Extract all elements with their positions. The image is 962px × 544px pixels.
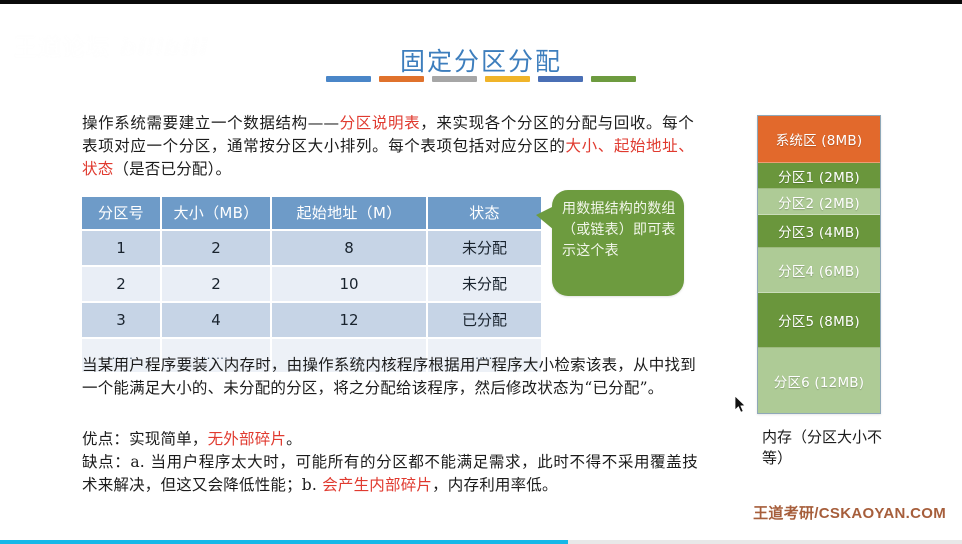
- memory-block-partition-4: 分区4 (6MB): [758, 248, 880, 293]
- memory-diagram-caption: 内存（分区大小不等）: [762, 427, 888, 469]
- cons-paragraph: 缺点：a. 当用户程序太大时，可能所有的分区都不能满足需求，此时不得不采用覆盖技…: [82, 451, 698, 497]
- page-title: 固定分区分配: [0, 42, 962, 78]
- rule-bar-5: [538, 76, 583, 82]
- watermark-bottom-right: 王道考研/CSKAOYAN.COM: [753, 502, 946, 523]
- rule-bar-1: [326, 76, 371, 82]
- cell-start-address: 8: [272, 231, 426, 265]
- partition-table-wrapper: 分区号 大小（MB） 起始地址（M） 状态 1 2 8 未分配 2: [80, 195, 533, 374]
- column-header-start-address: 起始地址（M）: [272, 197, 426, 229]
- intro-text-part1: 操作系统需要建立一个数据结构——: [82, 114, 339, 132]
- column-header-size: 大小（MB）: [162, 197, 270, 229]
- cell-partition-no: 3: [82, 303, 160, 337]
- column-header-partition-no: 分区号: [82, 197, 160, 229]
- cons-highlight-internal-fragmentation: 会产生内部碎片: [322, 476, 432, 494]
- pros-label: 优点：实现简单，: [82, 430, 208, 448]
- table-row: 1 2 8 未分配: [82, 231, 541, 265]
- cell-size: 4: [162, 303, 270, 337]
- column-header-status: 状态: [428, 197, 541, 229]
- memory-block-system-area: 系统区 (8MB): [758, 116, 880, 163]
- memory-block-label: 分区3 (4MB): [778, 221, 860, 241]
- video-progress-fill[interactable]: [0, 540, 568, 544]
- memory-block-label: 系统区 (8MB): [776, 129, 863, 149]
- rule-bar-4: [485, 76, 530, 82]
- callout-bubble: 用数据结构的数组（或链表）即可表示这个表: [552, 190, 684, 296]
- cell-status: 未分配: [428, 231, 541, 265]
- pros-paragraph: 优点：实现简单，无外部碎片。: [82, 428, 698, 451]
- cell-partition-no: 1: [82, 231, 160, 265]
- memory-block-label: 分区2 (2MB): [778, 192, 860, 212]
- partition-description-table: 分区号 大小（MB） 起始地址（M） 状态 1 2 8 未分配 2: [80, 195, 543, 374]
- intro-highlight-partition-table: 分区说明表: [339, 114, 420, 132]
- table-row: 3 4 12 已分配: [82, 303, 541, 337]
- rule-bar-3: [432, 76, 477, 82]
- memory-block-partition-3: 分区3 (4MB): [758, 215, 880, 248]
- memory-block-label: 分区5 (8MB): [778, 310, 860, 330]
- rule-bar-6: [591, 76, 636, 82]
- presentation-slide: 王道论坛bilibili 固定分区分配 操作系统需要建立一个数据结构——分区说明…: [0, 4, 962, 537]
- cell-start-address: 12: [272, 303, 426, 337]
- memory-block-label: 分区1 (2MB): [778, 166, 860, 186]
- intro-paragraph: 操作系统需要建立一个数据结构——分区说明表，来实现各个分区的分配与回收。每个表项…: [82, 112, 694, 181]
- video-progress-track[interactable]: [0, 540, 962, 544]
- memory-block-label: 分区6 (12MB): [774, 371, 865, 391]
- video-player: 王道论坛bilibili 固定分区分配 操作系统需要建立一个数据结构——分区说明…: [0, 0, 962, 544]
- cons-text-part2: ，内存利用率低。: [432, 476, 558, 494]
- memory-block-label: 分区4 (6MB): [778, 260, 860, 280]
- pros-tail: 。: [286, 430, 302, 448]
- cell-status: 已分配: [428, 303, 541, 337]
- cell-status: 未分配: [428, 267, 541, 301]
- intro-text-part3: （是否已分配）。: [113, 160, 231, 178]
- title-rule-bars: [0, 76, 962, 82]
- memory-block-partition-2: 分区2 (2MB): [758, 189, 880, 215]
- memory-block-partition-1: 分区1 (2MB): [758, 163, 880, 189]
- table-header-row: 分区号 大小（MB） 起始地址（M） 状态: [82, 197, 541, 229]
- callout-text: 用数据结构的数组（或链表）即可表示这个表: [562, 199, 676, 262]
- allocation-paragraph: 当某用户程序要装入内存时，由操作系统内核程序根据用户程序大小检索该表，从中找到一…: [82, 354, 696, 400]
- memory-block-partition-6: 分区6 (12MB): [758, 348, 880, 413]
- cell-partition-no: 2: [82, 267, 160, 301]
- callout-tail-icon: [536, 206, 554, 230]
- rule-bar-2: [379, 76, 424, 82]
- memory-layout-diagram: 系统区 (8MB) 分区1 (2MB) 分区2 (2MB) 分区3 (4MB) …: [757, 115, 881, 414]
- pros-highlight: 无外部碎片: [208, 430, 287, 448]
- cell-size: 2: [162, 231, 270, 265]
- cell-start-address: 10: [272, 267, 426, 301]
- table-row: 2 2 10 未分配: [82, 267, 541, 301]
- cell-size: 2: [162, 267, 270, 301]
- memory-block-partition-5: 分区5 (8MB): [758, 293, 880, 348]
